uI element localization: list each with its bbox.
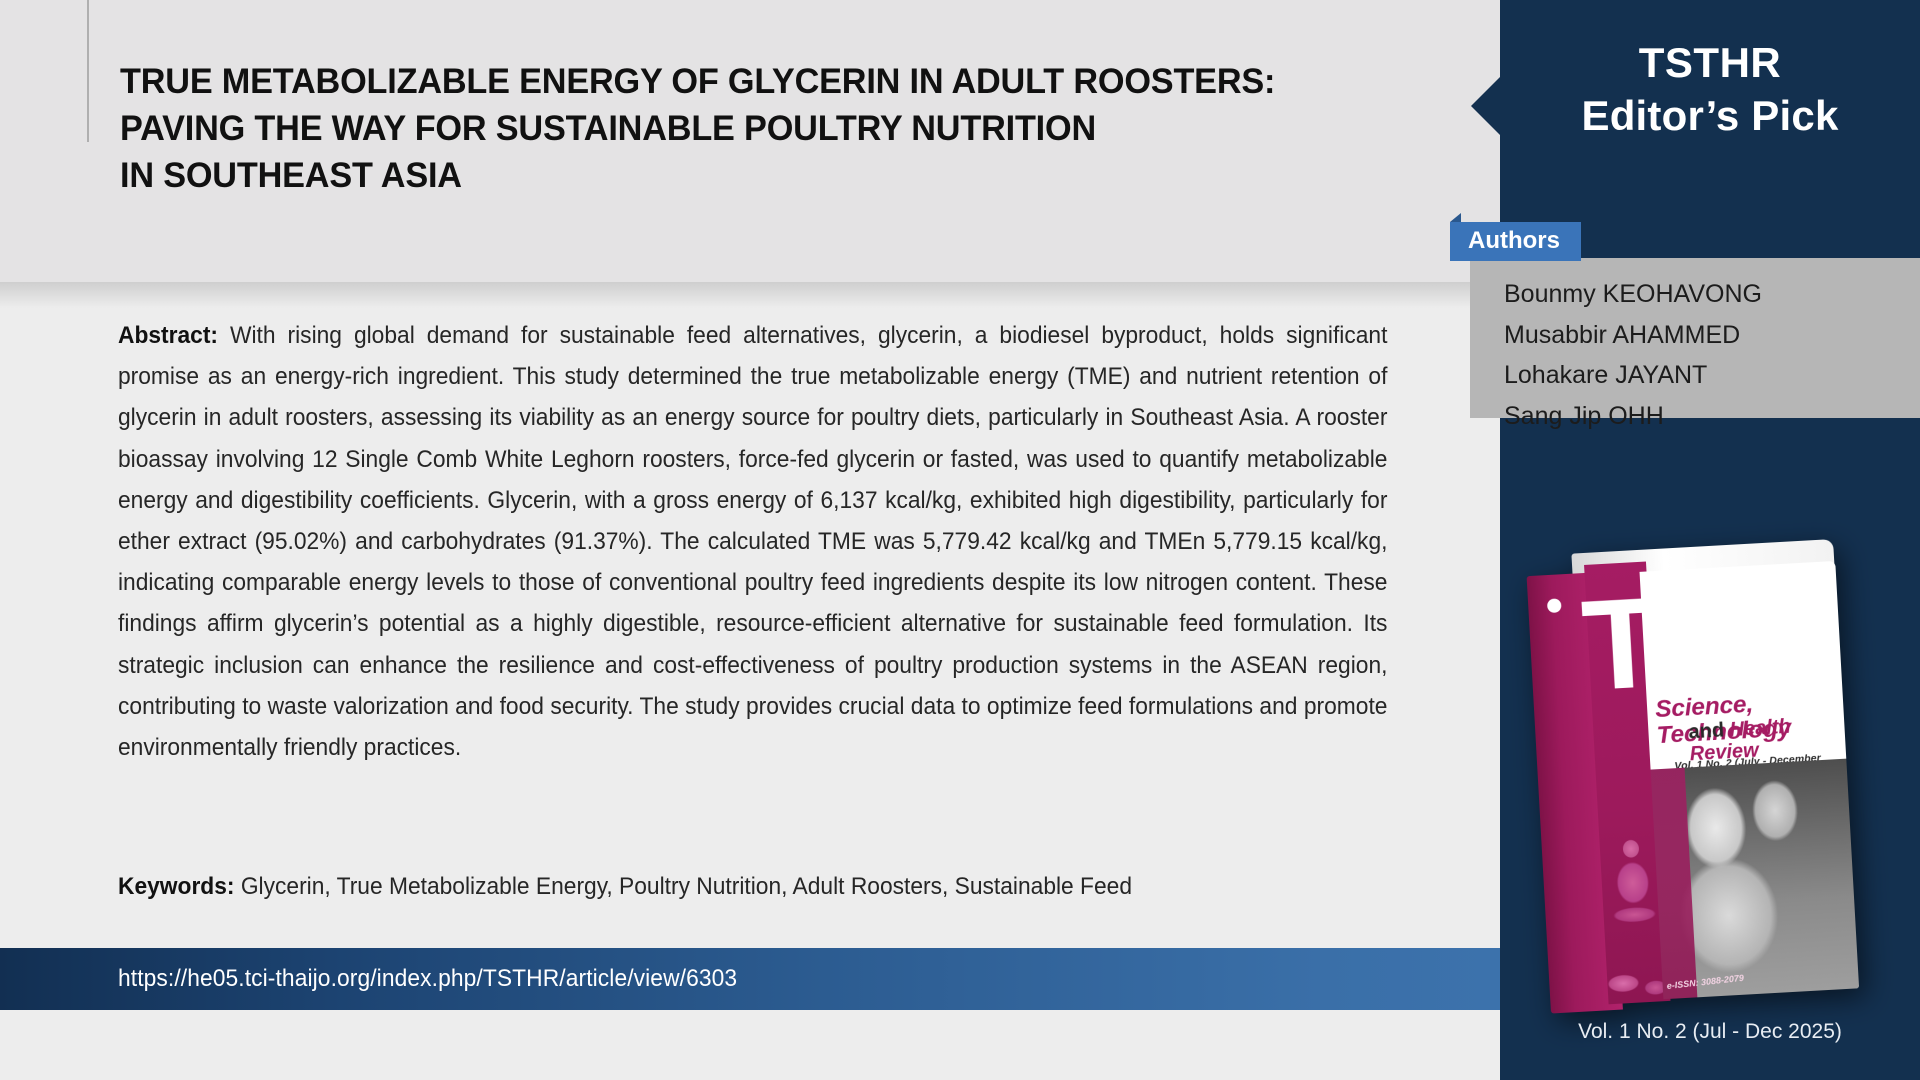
abstract-label: Abstract: [118,322,218,349]
brand-editors-pick: Editor’s Pick [1500,89,1920,142]
page-title: TRUE METABOLIZABLE ENERGY OF GLYCERIN IN… [120,58,1394,199]
journal-cover-image: Thai Science, Technology and Health Revi… [1538,555,1888,1005]
title-accent-rule [87,0,89,142]
list-item: Musabbir AHAMMED [1504,315,1920,356]
keywords-block: Keywords: Glycerin, True Metabolizable E… [118,870,1387,904]
title-band: TRUE METABOLIZABLE ENERGY OF GLYCERIN IN… [0,0,1500,282]
article-url-bar[interactable]: https://he05.tci-thaijo.org/index.php/TS… [0,948,1500,1010]
cover-photo [1651,759,1860,1000]
keywords-label: Keywords: [118,873,234,900]
list-item: Sang Jip OHH [1504,396,1920,437]
list-item: Bounmy KEOHAVONG [1504,274,1920,315]
abstract-paragraph: Abstract: With rising global demand for … [118,315,1387,768]
panel-notch-arrow-icon [1471,77,1500,135]
editors-pick-panel: TSTHR Editor’s Pick Authors Bounmy KEOHA… [1500,0,1920,1080]
abstract-text: With rising global demand for sustainabl… [118,322,1387,761]
keywords-text: Glycerin, True Metabolizable Energy, Pou… [234,873,1131,900]
abstract-block: Abstract: With rising global demand for … [118,315,1388,768]
issue-caption: Vol. 1 No. 2 (Jul - Dec 2025) [1500,1020,1920,1044]
cover-spine-dot-icon [1547,598,1562,613]
list-item: Lohakare JAYANT [1504,355,1920,396]
authors-tab-label: Authors [1450,222,1581,261]
authors-list: Bounmy KEOHAVONG Musabbir AHAMMED Lohaka… [1470,258,1920,436]
journal-cover-inner: Thai Science, Technology and Health Revi… [1526,546,1868,1005]
article-main-column: TRUE METABOLIZABLE ENERGY OF GLYCERIN IN… [0,0,1500,1080]
article-url-link[interactable]: https://he05.tci-thaijo.org/index.php/TS… [118,965,737,993]
authors-panel: Bounmy KEOHAVONG Musabbir AHAMMED Lohaka… [1470,258,1920,418]
cover-title-and: and [1688,719,1730,743]
brand-acronym: TSTHR [1500,36,1920,89]
cover-front-face: Science, Technology and Health Review Vo… [1640,561,1860,999]
brand-block: TSTHR Editor’s Pick [1500,36,1920,142]
